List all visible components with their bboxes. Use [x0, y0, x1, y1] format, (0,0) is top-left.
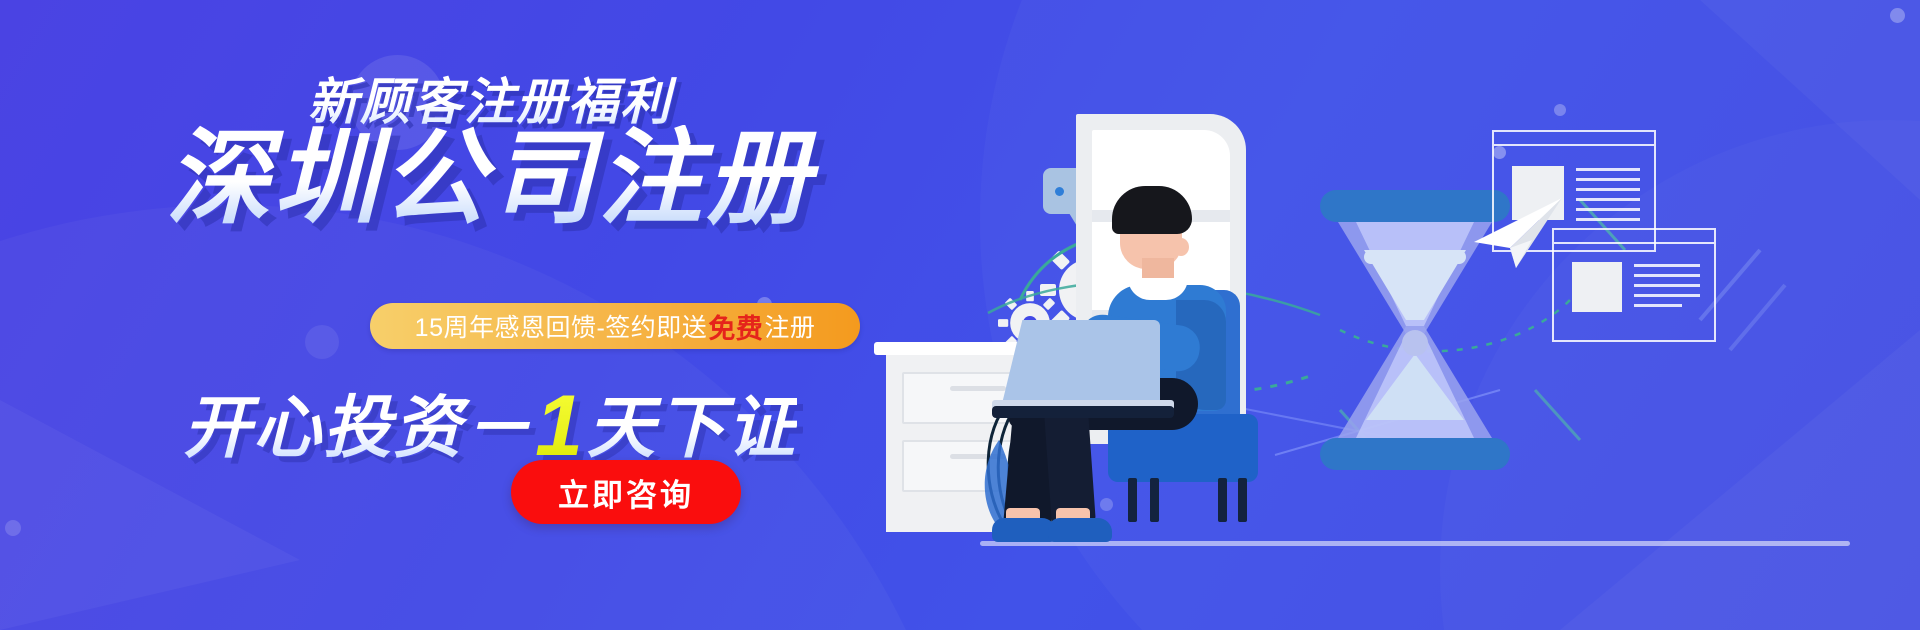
promo-pill: 15周年感恩回馈-签约即送免费注册 [370, 303, 860, 349]
document-thumbnail [1572, 262, 1622, 312]
illustration [880, 0, 1920, 630]
tagline-after: 天下证 [587, 390, 797, 466]
document-text-line [1634, 274, 1700, 277]
person-shoe-right [1048, 518, 1112, 542]
document-text-line [1634, 304, 1682, 307]
page-title: 深圳公司注册 [0, 125, 980, 234]
promo-banner: 新顾客注册福利 深圳公司注册 15周年感恩回馈-签约即送免费注册 开心投资－1天… [0, 0, 1920, 630]
document-text-line [1576, 178, 1640, 181]
promo-pill-prefix: 15周年感恩回馈-签约即送 [415, 308, 708, 344]
hourglass-neck [1402, 330, 1428, 356]
document-text-line [1576, 218, 1640, 221]
document-card-front [1552, 228, 1716, 342]
armchair-leg-right [1218, 478, 1227, 522]
consult-now-button[interactable]: 立即咨询 [511, 460, 741, 524]
armchair-leg-right2 [1238, 478, 1247, 522]
person-ear [1173, 238, 1189, 256]
armchair-leg-left2 [1150, 478, 1159, 522]
document-text-line [1634, 284, 1700, 287]
laptop-screen [1000, 320, 1160, 412]
document-text-line [1634, 294, 1700, 297]
document-text-line [1576, 168, 1640, 171]
tagline: 开心投资－1天下证 [0, 372, 980, 476]
document-text-line [1576, 198, 1640, 201]
document-card-header [1494, 132, 1654, 146]
tagline-before: 开心投资－ [183, 390, 533, 466]
promo-pill-highlight: 免费 [707, 307, 764, 346]
floor-line [980, 541, 1850, 546]
document-text-line [1576, 188, 1640, 191]
document-card-header [1554, 230, 1714, 244]
person-shoe-left [992, 518, 1056, 542]
laptop-base [992, 406, 1174, 418]
armchair-leg-left [1128, 478, 1137, 522]
consult-now-label: 立即咨询 [558, 470, 694, 515]
promo-pill-suffix: 注册 [764, 308, 815, 344]
document-text-line [1634, 264, 1700, 267]
hourglass-cap-bottom [1320, 438, 1510, 470]
document-text-line [1576, 208, 1640, 211]
paper-plane-icon [1470, 196, 1566, 270]
person-hair [1112, 186, 1192, 234]
copy-block: 新顾客注册福利 深圳公司注册 15周年感恩回馈-签约即送免费注册 开心投资－1天… [0, 0, 980, 630]
